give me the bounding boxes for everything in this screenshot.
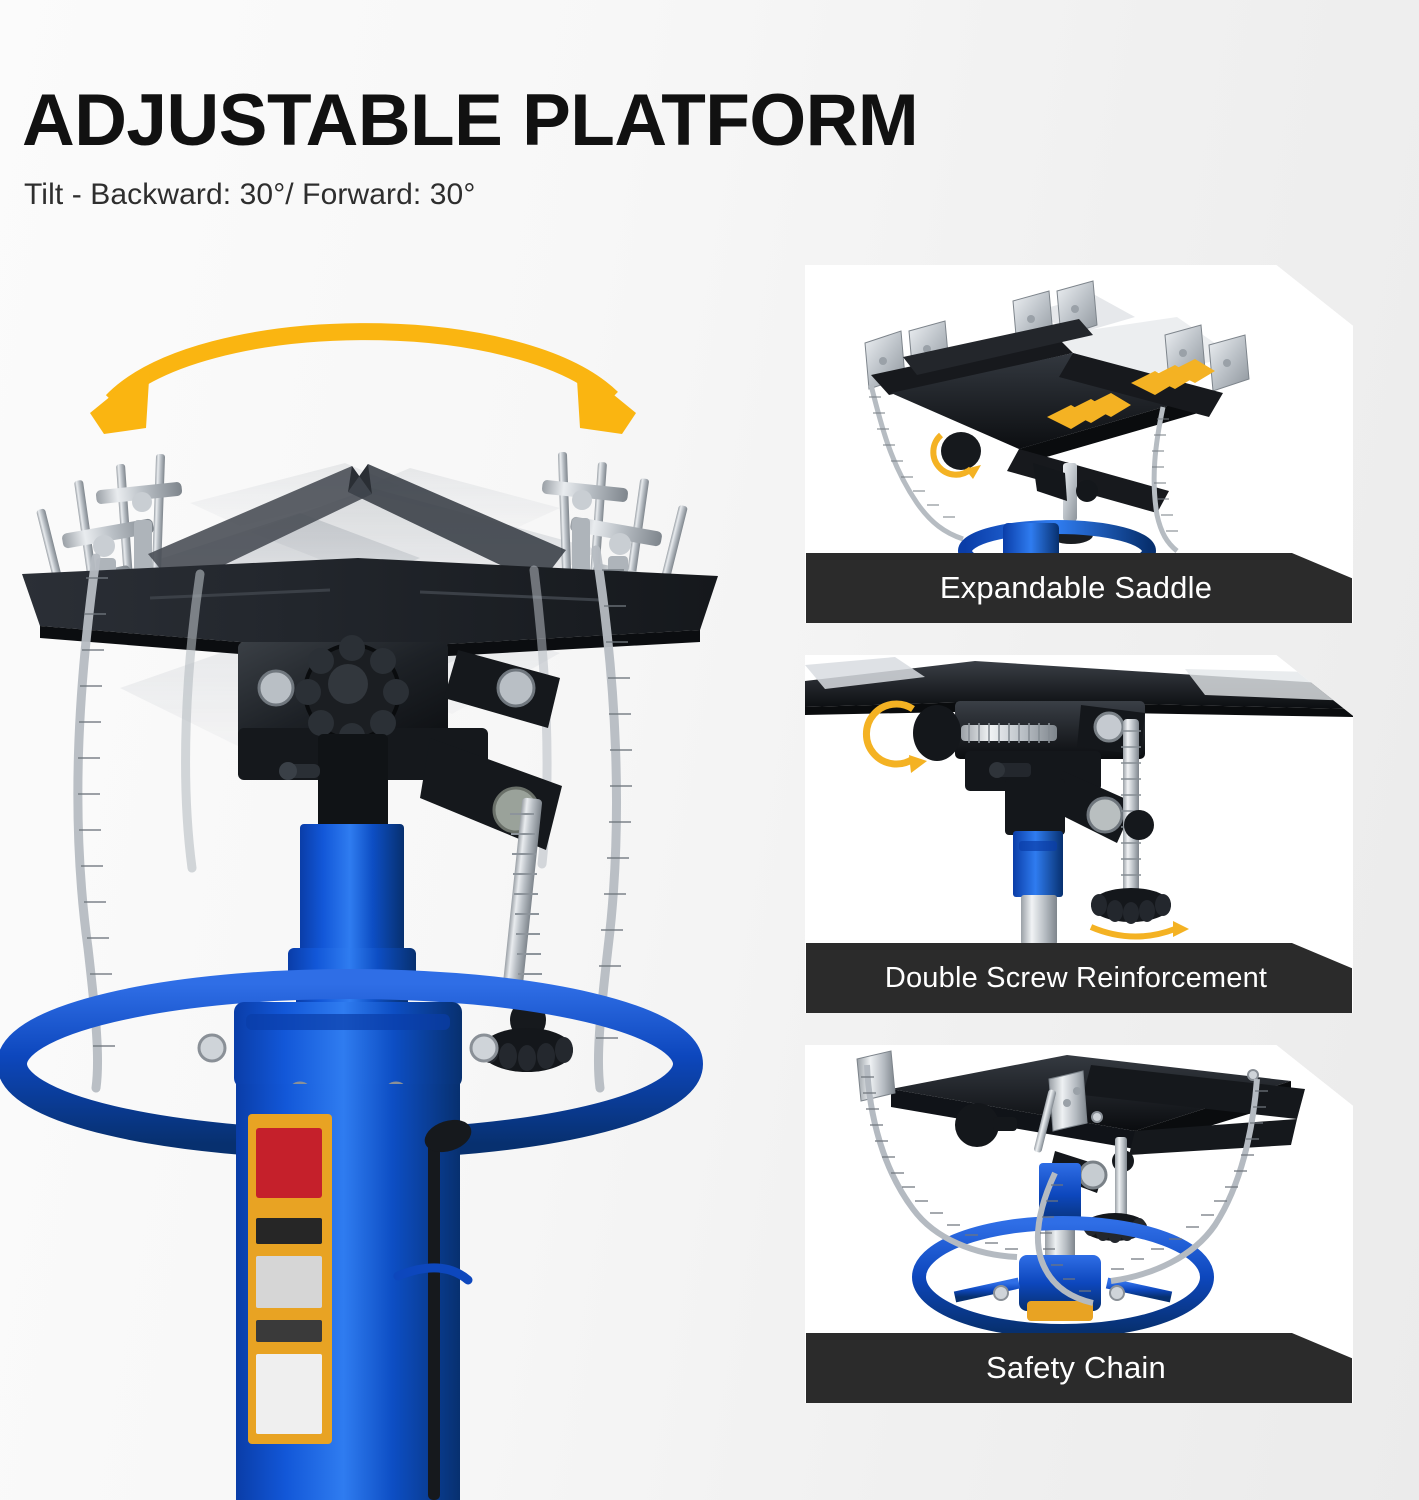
caption-bar-safety-chain: Safety Chain: [806, 1333, 1352, 1403]
page-subtitle: Tilt - Backward: 30°/ Forward: 30°: [24, 178, 1122, 212]
adjuster-screw-rod: [481, 798, 573, 1072]
panel-spacer: [805, 1013, 1353, 1045]
feature-panel-column: Expandable Saddle: [805, 265, 1353, 1403]
feature-panel-expandable-saddle[interactable]: Expandable Saddle: [805, 265, 1353, 623]
tilt-range-double-arrow: [90, 332, 636, 434]
tilt-lock-knob: [295, 635, 409, 749]
hero-product-image: [0, 258, 790, 1500]
feature-panel-double-screw-reinforcement[interactable]: Double Screw Reinforcement: [805, 655, 1353, 1013]
safety-chain-photo: [805, 1045, 1353, 1335]
header: ADJUSTABLE PLATFORM Tilt - Backward: 30°…: [22, 86, 1122, 212]
panel-spacer: [805, 623, 1353, 655]
double-screw-reinforcement-photo: [805, 655, 1353, 945]
caption-label: Double Screw Reinforcement: [885, 962, 1273, 995]
jack-column: [236, 1084, 475, 1500]
expandable-saddle-illustration: [805, 265, 1353, 555]
page-title: ADJUSTABLE PLATFORM: [22, 86, 1122, 156]
safety-chain-illustration: [805, 1045, 1353, 1335]
double-screw-illustration: [805, 655, 1353, 945]
infographic-page: ADJUSTABLE PLATFORM Tilt - Backward: 30°…: [0, 0, 1419, 1500]
hero-illustration: [0, 258, 790, 1500]
caption-bar-double-screw-reinforcement: Double Screw Reinforcement: [806, 943, 1352, 1013]
caption-label: Safety Chain: [986, 1350, 1172, 1386]
caption-bar-expandable-saddle: Expandable Saddle: [806, 553, 1352, 623]
feature-panel-safety-chain[interactable]: Safety Chain: [805, 1045, 1353, 1403]
expandable-saddle-photo: [805, 265, 1353, 555]
tilt-mechanism: [238, 635, 562, 850]
caption-label: Expandable Saddle: [940, 570, 1218, 606]
